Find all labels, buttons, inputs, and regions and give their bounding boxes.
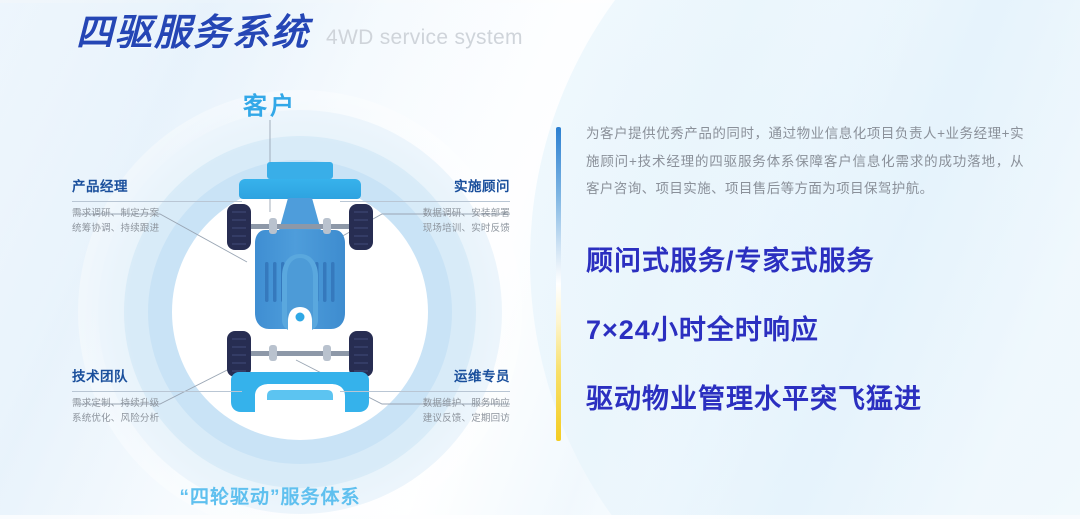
bottom-strip-decoration bbox=[0, 515, 1080, 519]
four-wheel-drive-diagram: 客户 产品经理 需求调研、制定方案 统筹协调、持续跟进 实施顾问 数据调研、安装… bbox=[0, 62, 540, 519]
node-title-technical-team: 技术团队 bbox=[72, 370, 242, 385]
headline-item-3: 驱动物业管理水平突飞猛进 bbox=[586, 386, 1016, 413]
node-rule-product-manager bbox=[72, 201, 242, 202]
node-line2-implementation-consultant: 现场培训、实时反馈 bbox=[340, 222, 510, 237]
car-front-wing-top bbox=[267, 162, 333, 179]
diagram-caption: “四轮驱动”服务体系 bbox=[0, 482, 540, 509]
page-header: 四驱服务系统 4WD service system bbox=[76, 14, 523, 51]
diagram-center-label: 客户 bbox=[0, 86, 540, 121]
diagram-node-operations-specialist: 运维专员 数据维护、服务响应 建议反馈、定期回访 bbox=[340, 370, 510, 426]
node-title-product-manager: 产品经理 bbox=[72, 180, 242, 195]
node-line1-implementation-consultant: 数据调研、安装部署 bbox=[340, 207, 510, 222]
node-line2-product-manager: 统筹协调、持续跟进 bbox=[72, 222, 242, 237]
diagram-node-product-manager: 产品经理 需求调研、制定方案 统筹协调、持续跟进 bbox=[72, 180, 242, 236]
page-title-en: 4WD service system bbox=[326, 27, 523, 51]
node-line1-technical-team: 需求定制、持续升级 bbox=[72, 397, 242, 412]
gradient-accent-bar bbox=[556, 127, 561, 441]
headline-item-1: 顾问式服务/专家式服务 bbox=[586, 248, 1016, 275]
node-title-implementation-consultant: 实施顾问 bbox=[340, 180, 510, 195]
node-rule-operations-specialist bbox=[340, 391, 510, 392]
description-paragraph: 为客户提供优秀产品的同时，通过物业信息化项目负责人+业务经理+实施顾问+技术经理… bbox=[586, 120, 1024, 203]
node-line1-product-manager: 需求调研、制定方案 bbox=[72, 207, 242, 222]
right-content-panel: 为客户提供优秀产品的同时，通过物业信息化项目负责人+业务经理+实施顾问+技术经理… bbox=[556, 120, 1026, 450]
headline-item-2: 7×24小时全时响应 bbox=[586, 317, 1016, 344]
node-rule-implementation-consultant bbox=[340, 201, 510, 202]
node-line2-technical-team: 系统优化、风险分析 bbox=[72, 412, 242, 427]
headline-list: 顾问式服务/专家式服务 7×24小时全时响应 驱动物业管理水平突飞猛进 bbox=[586, 248, 1016, 413]
node-rule-technical-team bbox=[72, 391, 242, 392]
slide-root: 四驱服务系统 4WD service system bbox=[0, 0, 1080, 519]
node-line1-operations-specialist: 数据维护、服务响应 bbox=[340, 397, 510, 412]
page-title-cn: 四驱服务系统 bbox=[76, 14, 310, 51]
node-line2-operations-specialist: 建议反馈、定期回访 bbox=[340, 412, 510, 427]
diagram-node-implementation-consultant: 实施顾问 数据调研、安装部署 现场培训、实时反馈 bbox=[340, 180, 510, 236]
node-title-operations-specialist: 运维专员 bbox=[340, 370, 510, 385]
diagram-node-technical-team: 技术团队 需求定制、持续升级 系统优化、风险分析 bbox=[72, 370, 242, 426]
car-rear-wing-highlight bbox=[267, 390, 333, 400]
car-driver-helmet bbox=[296, 313, 305, 322]
